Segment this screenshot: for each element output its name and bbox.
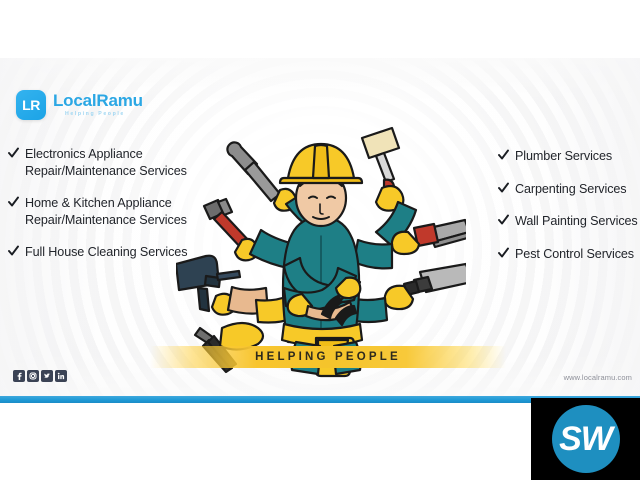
service-list-left: Electronics Appliance Repair/Maintenance… xyxy=(8,146,190,277)
service-item: Pest Control Services xyxy=(498,246,638,263)
helping-people-banner: HELPING PEOPLE xyxy=(150,346,506,368)
handyman-illustration xyxy=(176,116,466,381)
check-icon xyxy=(8,147,19,163)
service-item: Plumber Services xyxy=(498,148,638,165)
service-label: Home & Kitchen Appliance Repair/Maintena… xyxy=(25,195,190,228)
linkedin-icon[interactable] xyxy=(55,370,67,382)
brand-tagline: Helping People xyxy=(65,112,143,117)
facebook-icon[interactable] xyxy=(13,370,25,382)
logo-badge-text: LR xyxy=(22,97,40,113)
watermark-circle: SW xyxy=(552,405,620,473)
check-icon xyxy=(498,182,509,198)
service-item: Full House Cleaning Services xyxy=(8,244,190,261)
screenshot-canvas: LR LocalRamu Helping People xyxy=(0,0,640,480)
service-item: Home & Kitchen Appliance Repair/Maintena… xyxy=(8,195,190,228)
logo-wordmark: LocalRamu Helping People xyxy=(53,92,143,117)
wrench-tool xyxy=(227,142,280,201)
service-list-right: Plumber Services Carpenting Services Wal… xyxy=(498,148,638,278)
brand-name: LocalRamu xyxy=(53,92,143,109)
service-label: Full House Cleaning Services xyxy=(25,244,187,261)
service-label: Pest Control Services xyxy=(515,246,634,263)
instagram-icon[interactable] xyxy=(27,370,39,382)
service-item: Electronics Appliance Repair/Maintenance… xyxy=(8,146,190,179)
banner-text: HELPING PEOPLE xyxy=(255,351,401,363)
check-icon xyxy=(498,214,509,230)
website-url[interactable]: www.localramu.com xyxy=(564,373,632,382)
twitter-icon[interactable] xyxy=(41,370,53,382)
service-item: Wall Painting Services xyxy=(498,213,638,230)
social-links xyxy=(13,370,67,382)
service-label: Carpenting Services xyxy=(515,181,627,198)
check-icon xyxy=(8,196,19,212)
paint-roller-tool xyxy=(362,128,399,190)
check-icon xyxy=(498,247,509,263)
watermark-text: SW xyxy=(559,420,612,459)
hand-saw-tool xyxy=(414,220,466,247)
check-icon xyxy=(8,245,19,261)
logo-badge-icon: LR xyxy=(16,90,46,120)
brand-logo: LR LocalRamu Helping People xyxy=(16,90,143,120)
service-label: Plumber Services xyxy=(515,148,612,165)
check-icon xyxy=(498,149,509,165)
sw-watermark: SW xyxy=(531,398,640,480)
trowel-tool xyxy=(404,264,466,295)
service-item: Carpenting Services xyxy=(498,181,638,198)
service-poster: LR LocalRamu Helping People xyxy=(0,58,640,403)
service-label: Electronics Appliance Repair/Maintenance… xyxy=(25,146,190,179)
service-label: Wall Painting Services xyxy=(515,213,638,230)
